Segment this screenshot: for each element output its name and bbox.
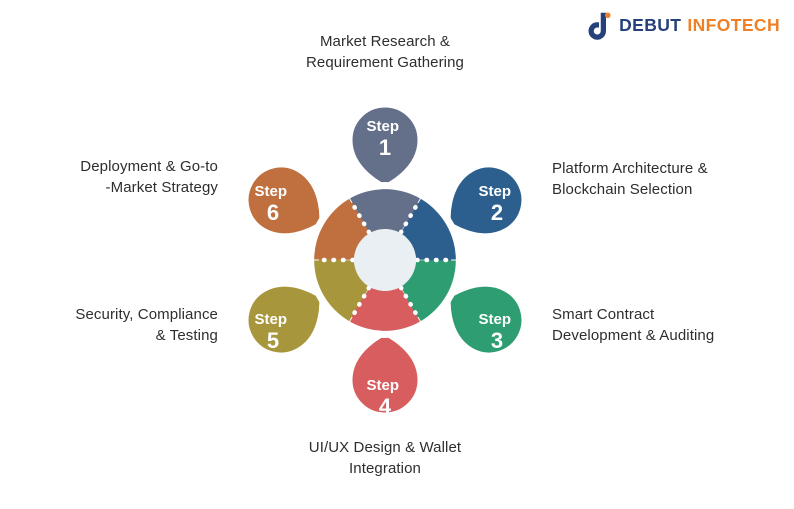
step-word-1: Step xyxy=(367,118,400,135)
caption-step-5: Security, Compliance & Testing xyxy=(6,304,218,347)
brand-logo-wordmark: DEBUTINFOTECH xyxy=(619,17,780,35)
step-word-5: Step xyxy=(255,311,288,328)
step-digit-2: 2 xyxy=(491,200,503,225)
step-word-4: Step xyxy=(367,377,400,394)
diagram-center-hub xyxy=(354,229,416,291)
caption-step-3: Smart Contract Development & Auditing xyxy=(552,304,786,347)
caption-step-1: Market Research & Requirement Gathering xyxy=(268,31,502,74)
step-digit-3: 3 xyxy=(491,328,503,353)
brand-name-secondary: INFOTECH xyxy=(687,15,780,35)
step-digit-6: 6 xyxy=(267,200,279,225)
step-digit-1: 1 xyxy=(379,135,391,160)
step-word-6: Step xyxy=(255,183,288,200)
step-digit-4: 4 xyxy=(379,394,392,419)
debut-d-logo-icon xyxy=(585,12,611,40)
step-word-3: Step xyxy=(479,311,512,328)
process-cycle-diagram: Step 1 Step 2 Step 3 Step 4 Step 5 Step xyxy=(228,78,542,442)
step-word-2: Step xyxy=(479,183,512,200)
caption-step-2: Platform Architecture & Blockchain Selec… xyxy=(552,158,786,201)
caption-step-6: Deployment & Go-to -Market Strategy xyxy=(6,156,218,199)
step-digit-5: 5 xyxy=(267,328,279,353)
caption-step-4: UI/UX Design & Wallet Integration xyxy=(268,437,502,480)
brand-name-primary: DEBUT xyxy=(619,15,681,35)
brand-logo: DEBUTINFOTECH xyxy=(585,11,780,41)
